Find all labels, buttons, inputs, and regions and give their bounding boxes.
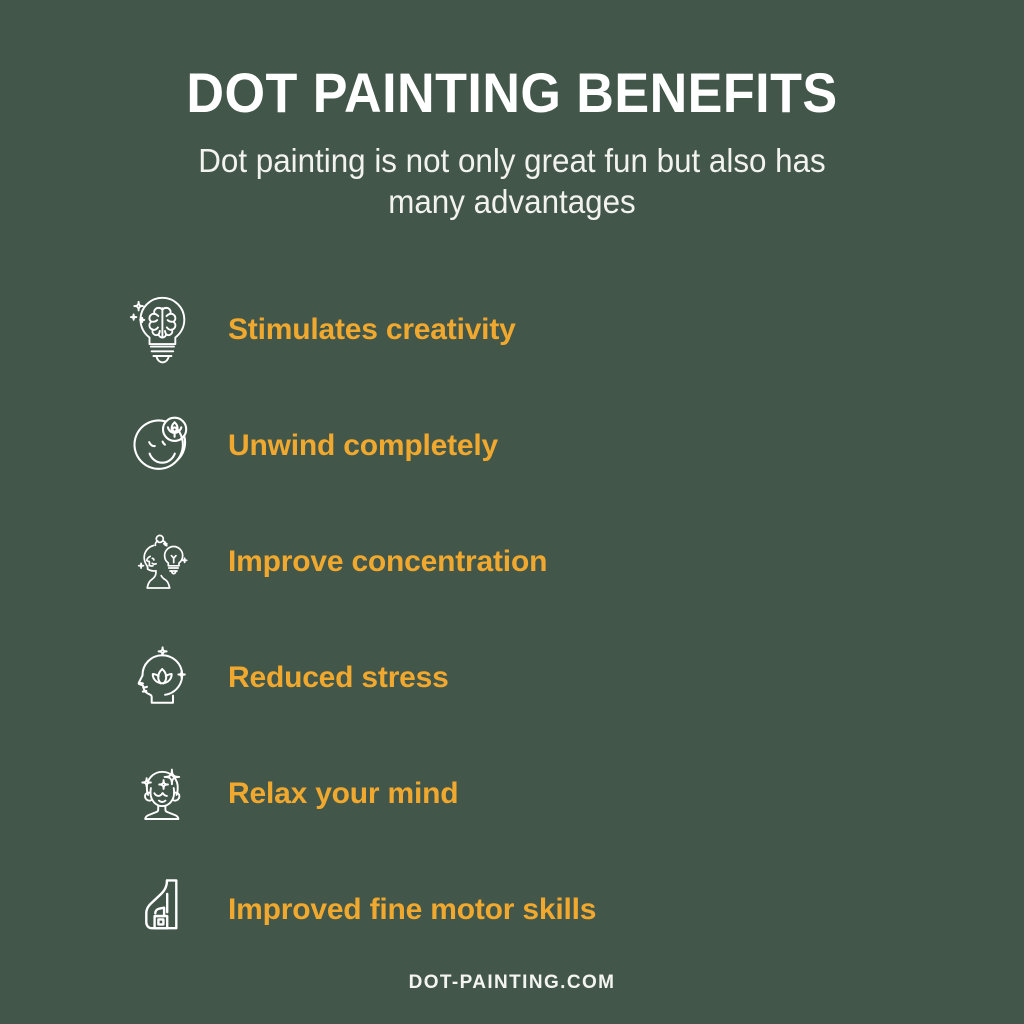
relaxed-face-stars-icon: [128, 756, 196, 832]
benefits-list: Stimulates creativity: [128, 272, 928, 968]
benefit-item-improved-fine-motor-skills: Improved fine motor skills: [128, 852, 928, 968]
head-lightbulb-icon: [128, 524, 196, 600]
poster-footer: DOT-PAINTING.COM: [0, 972, 1024, 994]
smiley-flower-icon: [128, 408, 196, 484]
poster-header: DOT PAINTING BENEFITS Dot painting is no…: [0, 62, 1024, 222]
page-subtitle: Dot painting is not only great fun but a…: [26, 140, 999, 222]
infographic-poster: DOT PAINTING BENEFITS Dot painting is no…: [0, 0, 1024, 1024]
benefit-label: Relax your mind: [228, 777, 458, 811]
website-url[interactable]: DOT-PAINTING.COM: [409, 972, 616, 993]
benefit-label: Stimulates creativity: [228, 313, 516, 347]
hand-dotting-tool-icon: [128, 872, 196, 948]
benefit-label: Unwind completely: [228, 429, 498, 463]
benefit-label: Reduced stress: [228, 661, 449, 695]
benefit-item-unwind-completely: Unwind completely: [128, 388, 928, 504]
benefit-item-improve-concentration: Improve concentration: [128, 504, 928, 620]
benefit-item-relax-your-mind: Relax your mind: [128, 736, 928, 852]
benefit-label: Improved fine motor skills: [228, 893, 596, 927]
benefit-label: Improve concentration: [228, 545, 547, 579]
brain-lightbulb-icon: [128, 292, 196, 368]
head-lotus-icon: [128, 640, 196, 716]
benefit-item-stimulates-creativity: Stimulates creativity: [128, 272, 928, 388]
benefit-item-reduced-stress: Reduced stress: [128, 620, 928, 736]
page-title: DOT PAINTING BENEFITS: [36, 62, 988, 124]
